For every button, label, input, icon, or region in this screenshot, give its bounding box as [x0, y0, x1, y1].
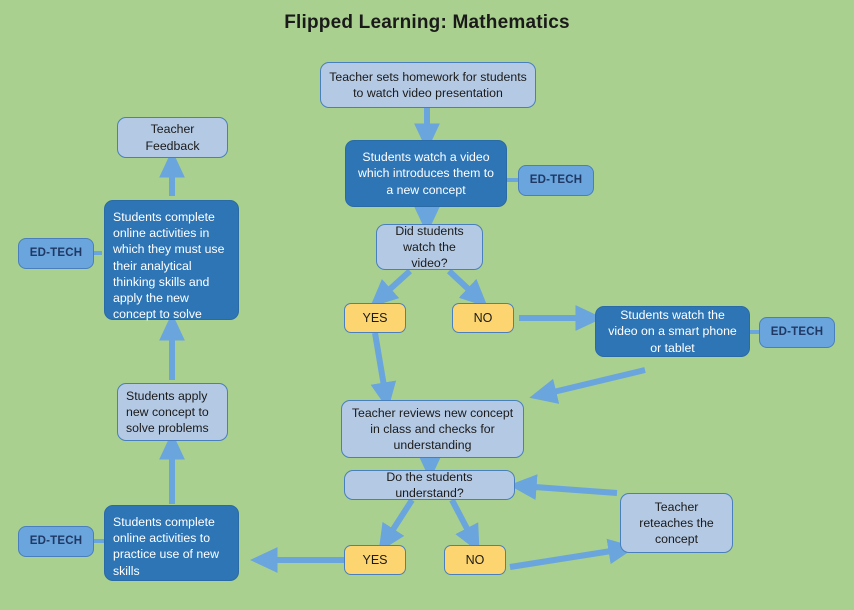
tag-ed-tech-practice[interactable]: ED-TECH — [18, 526, 94, 557]
node-label: Teacher reteaches the concept — [629, 499, 724, 548]
node-do-students-understand[interactable]: Do the students understand? — [344, 470, 515, 500]
arrow-smartphone-to-review — [541, 370, 645, 395]
arrow-reteach-to-understand — [521, 486, 617, 493]
node-label: Teacher sets homework for students to wa… — [329, 69, 527, 101]
node-label: NO — [453, 552, 497, 569]
node-label: YES — [353, 310, 397, 327]
arrow-no-to-reteach — [510, 549, 624, 567]
tag-label: ED-TECH — [768, 325, 826, 340]
node-label: Teacher Feedback — [126, 121, 219, 153]
tag-ed-tech-smartphone[interactable]: ED-TECH — [759, 317, 835, 348]
node-teacher-reteaches[interactable]: Teacher reteaches the concept — [620, 493, 733, 553]
node-no-watched[interactable]: NO — [452, 303, 514, 333]
node-label: Students apply new concept to solve prob… — [126, 388, 219, 437]
node-watch-on-smartphone[interactable]: Students watch the video on a smart phon… — [595, 306, 750, 357]
node-students-apply-concept[interactable]: Students apply new concept to solve prob… — [117, 383, 228, 441]
flowchart-canvas: Flipped Learning: Mathematics — [0, 0, 854, 610]
node-label: Students complete online activities to p… — [113, 514, 230, 579]
node-label: Students complete online activities in w… — [113, 209, 230, 323]
node-no-understand[interactable]: NO — [444, 545, 506, 575]
arrow-understand-to-yes — [385, 500, 412, 542]
node-teacher-reviews-concept[interactable]: Teacher reviews new concept in class and… — [341, 400, 524, 458]
tag-label: ED-TECH — [27, 534, 85, 549]
node-label: NO — [461, 310, 505, 327]
tag-ed-tech-video[interactable]: ED-TECH — [518, 165, 594, 196]
node-teacher-sets-homework[interactable]: Teacher sets homework for students to wa… — [320, 62, 536, 108]
node-label: Students watch a video which introduces … — [354, 149, 498, 198]
node-teacher-feedback[interactable]: Teacher Feedback — [117, 117, 228, 158]
arrow-understand-to-no — [452, 500, 474, 542]
tag-label: ED-TECH — [527, 173, 585, 188]
node-yes-watched[interactable]: YES — [344, 303, 406, 333]
node-label: Students watch the video on a smart phon… — [604, 307, 741, 356]
node-students-watch-video[interactable]: Students watch a video which introduces … — [345, 140, 507, 207]
node-label: Teacher reviews new concept in class and… — [350, 405, 515, 454]
node-label: Did students watch the video? — [385, 223, 474, 272]
arrow-yes-to-review — [375, 333, 386, 398]
node-label: Do the students understand? — [353, 469, 506, 501]
node-practice-online-activities[interactable]: Students complete online activities to p… — [104, 505, 239, 581]
node-yes-understand[interactable]: YES — [344, 545, 406, 575]
node-label: YES — [353, 552, 397, 569]
arrow-question-to-no — [449, 271, 479, 299]
tag-label: ED-TECH — [27, 246, 85, 261]
tag-ed-tech-analytical[interactable]: ED-TECH — [18, 238, 94, 269]
arrow-question-to-yes — [379, 271, 410, 299]
node-analytical-online-activities[interactable]: Students complete online activities in w… — [104, 200, 239, 320]
node-did-students-watch[interactable]: Did students watch the video? — [376, 224, 483, 270]
